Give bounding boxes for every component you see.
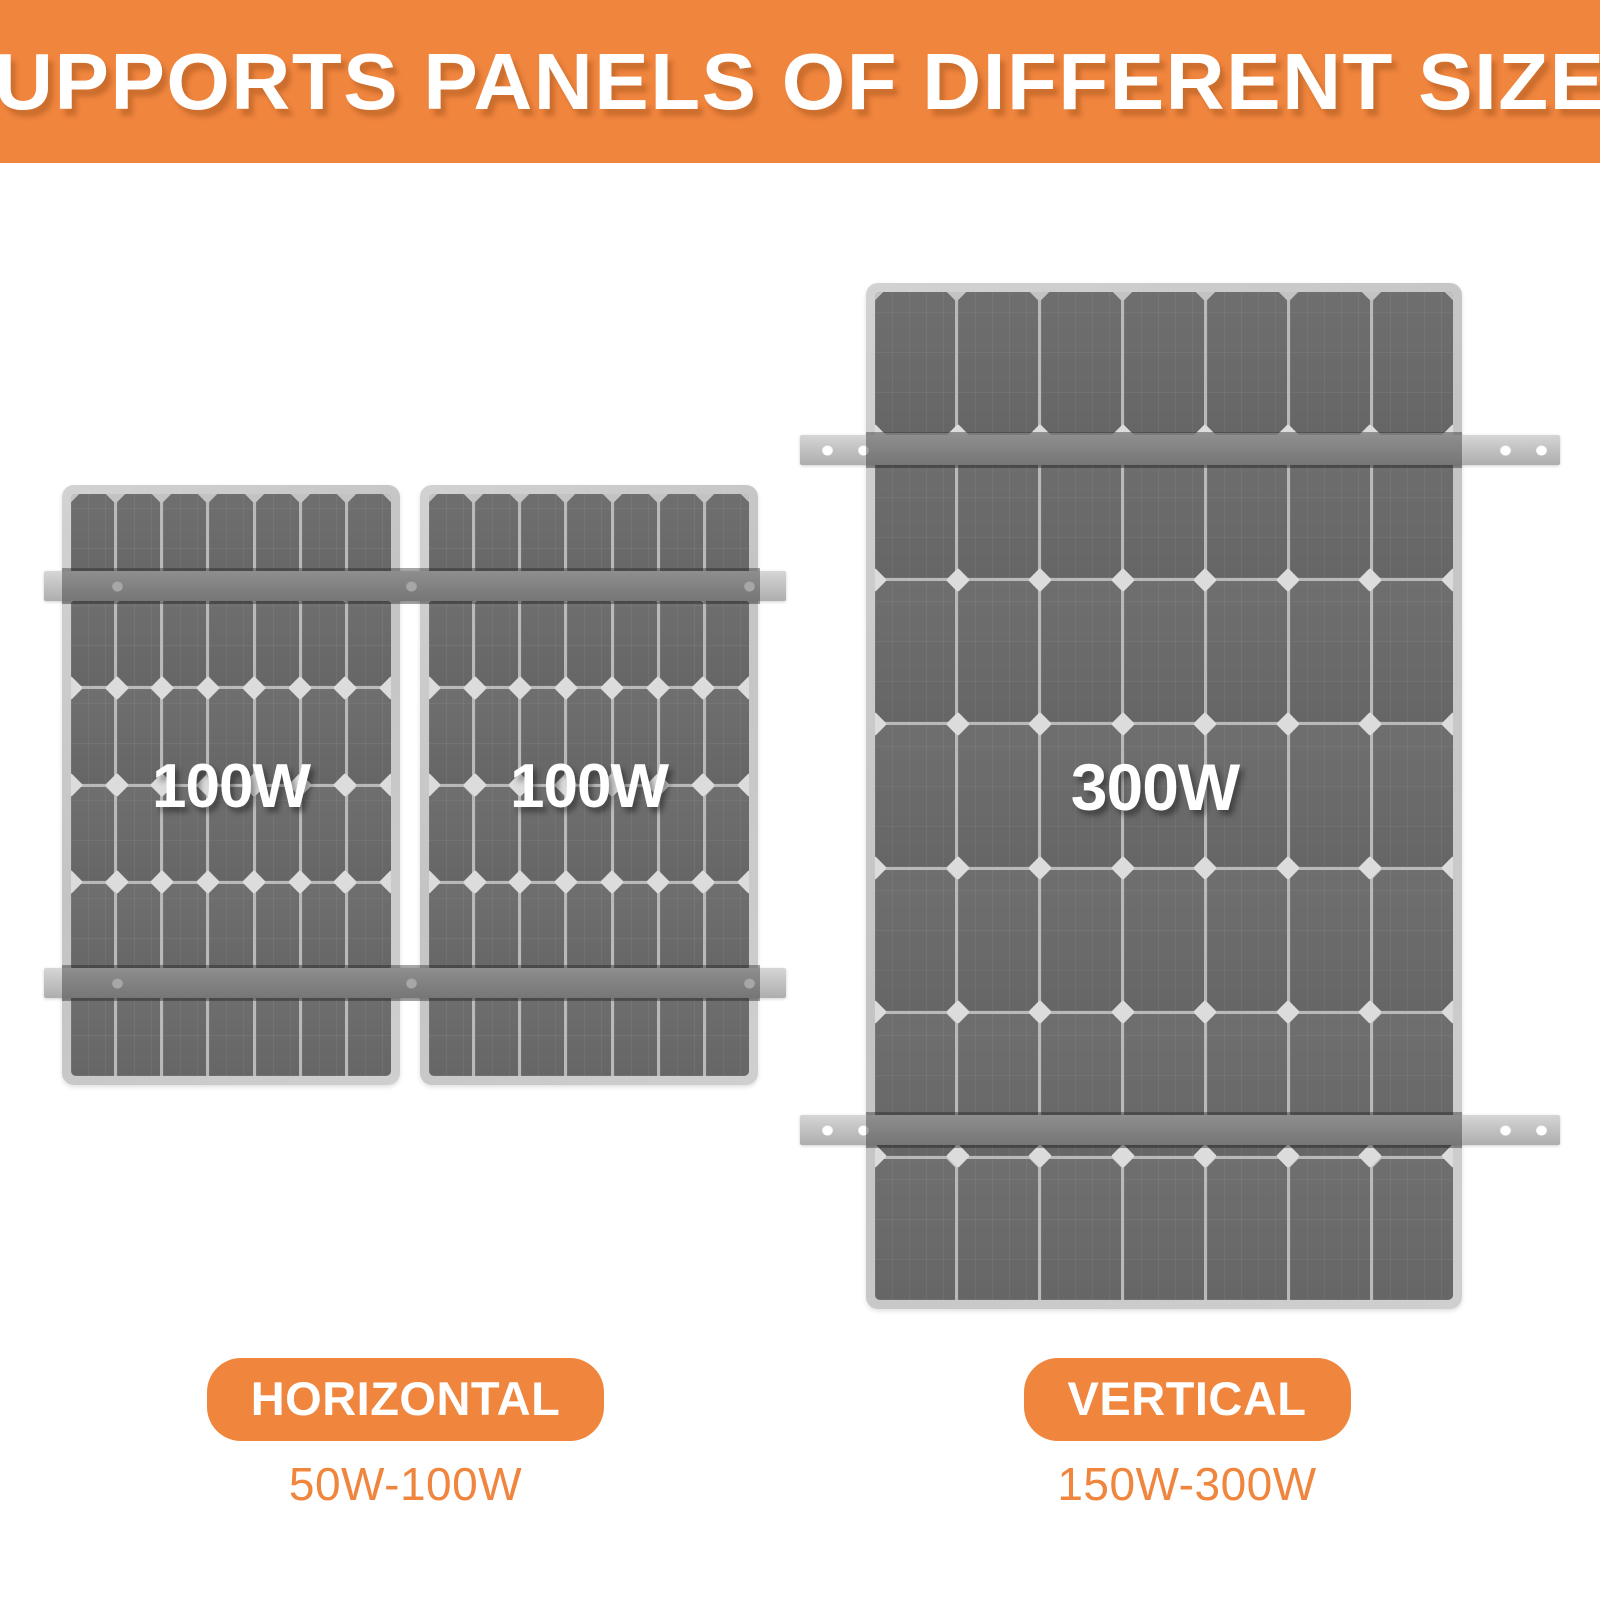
- wattage-label-300w: 300W: [1071, 754, 1239, 820]
- solar-cell: [429, 884, 472, 979]
- mounting-rail-vertical-bottom: [800, 1115, 1560, 1145]
- caption-pill-horizontal: HORIZONTAL: [207, 1358, 605, 1441]
- rail-screw-hole: [1500, 1125, 1511, 1136]
- solar-cell: [71, 787, 114, 882]
- solar-cell: [1290, 1159, 1370, 1300]
- solar-cell: [348, 787, 391, 882]
- solar-cell: [1207, 292, 1287, 433]
- solar-cell: [429, 689, 472, 784]
- rail-screw-hole: [1536, 1125, 1547, 1136]
- page-title: SUPPORTS PANELS OF DIFFERENT SIZES: [0, 42, 1600, 122]
- solar-cell: [614, 592, 657, 687]
- solar-cell: [521, 884, 564, 979]
- illustration-stage: 100W 100W 300W HORIZONTAL 50W-100W VERTI…: [0, 163, 1600, 1600]
- rail-screw-hole: [822, 1125, 833, 1136]
- solar-cell: [256, 592, 299, 687]
- solar-cell: [117, 592, 160, 687]
- solar-cell: [614, 884, 657, 979]
- rail-screw-hole: [744, 581, 755, 592]
- caption-range-horizontal: 50W-100W: [289, 1461, 522, 1507]
- solar-cell: [71, 592, 114, 687]
- solar-cell: [875, 292, 955, 433]
- solar-cell: [706, 689, 749, 784]
- mounting-rail-horizontal-bottom: [44, 968, 786, 998]
- solar-cell: [1373, 1159, 1453, 1300]
- solar-cell: [1290, 725, 1370, 866]
- solar-cell: [1290, 292, 1370, 433]
- solar-cell: [521, 592, 564, 687]
- rail-screw-hole: [1500, 445, 1511, 456]
- solar-cell: [706, 592, 749, 687]
- solar-cell: [475, 592, 518, 687]
- solar-cell: [475, 884, 518, 979]
- caption-horizontal: HORIZONTAL 50W-100W: [178, 1358, 633, 1507]
- solar-cell: [163, 884, 206, 979]
- caption-vertical: VERTICAL 150W-300W: [952, 1358, 1422, 1507]
- solar-cell: [875, 725, 955, 866]
- solar-cell: [875, 870, 955, 1011]
- solar-cell: [958, 725, 1038, 866]
- solar-cell: [1207, 1159, 1287, 1300]
- solar-cell: [958, 581, 1038, 722]
- solar-cell: [567, 592, 610, 687]
- rail-screw-hole: [406, 978, 417, 989]
- solar-cell: [1373, 292, 1453, 433]
- rail-screw-hole: [822, 445, 833, 456]
- solar-cell: [1124, 1159, 1204, 1300]
- solar-cell: [1124, 581, 1204, 722]
- solar-cell: [958, 1159, 1038, 1300]
- solar-cell: [302, 592, 345, 687]
- solar-cell: [429, 592, 472, 687]
- solar-cell: [875, 1159, 955, 1300]
- solar-cell: [1373, 725, 1453, 866]
- solar-cell: [1041, 292, 1121, 433]
- solar-cell: [348, 592, 391, 687]
- solar-cell: [117, 884, 160, 979]
- solar-cell: [958, 870, 1038, 1011]
- solar-cell: [163, 592, 206, 687]
- caption-range-vertical: 150W-300W: [1057, 1461, 1316, 1507]
- solar-cell: [348, 884, 391, 979]
- solar-cell: [660, 592, 703, 687]
- solar-cell: [1373, 870, 1453, 1011]
- solar-cell: [660, 884, 703, 979]
- solar-cell: [209, 592, 252, 687]
- solar-cell: [875, 581, 955, 722]
- rail-screw-hole: [112, 978, 123, 989]
- solar-cell: [1124, 870, 1204, 1011]
- rail-screw-hole: [858, 445, 869, 456]
- solar-cell: [71, 884, 114, 979]
- rail-screw-hole: [1536, 445, 1547, 456]
- solar-cell: [1041, 581, 1121, 722]
- rail-screw-hole: [406, 581, 417, 592]
- solar-cell: [1207, 870, 1287, 1011]
- solar-cell: [1290, 870, 1370, 1011]
- rail-screw-hole: [112, 581, 123, 592]
- solar-cell: [567, 884, 610, 979]
- wattage-label-100w-left: 100W: [152, 756, 310, 818]
- solar-cell: [958, 292, 1038, 433]
- solar-cell: [1124, 292, 1204, 433]
- rail-screw-hole: [744, 978, 755, 989]
- solar-cell: [1207, 581, 1287, 722]
- solar-cell: [302, 884, 345, 979]
- solar-cell: [429, 787, 472, 882]
- caption-pill-vertical: VERTICAL: [1024, 1358, 1351, 1441]
- mounting-rail-horizontal-top: [44, 571, 786, 601]
- solar-cell: [209, 884, 252, 979]
- rail-screw-hole: [858, 1125, 869, 1136]
- header-banner: SUPPORTS PANELS OF DIFFERENT SIZES: [0, 0, 1600, 163]
- solar-cell: [1373, 581, 1453, 722]
- solar-cell: [348, 689, 391, 784]
- solar-cell: [1041, 870, 1121, 1011]
- solar-cell: [706, 884, 749, 979]
- solar-cell: [1041, 1159, 1121, 1300]
- solar-cell: [256, 884, 299, 979]
- solar-cell: [1290, 581, 1370, 722]
- solar-cell: [71, 689, 114, 784]
- wattage-label-100w-right: 100W: [510, 756, 668, 818]
- solar-cell: [706, 787, 749, 882]
- mounting-rail-vertical-top: [800, 435, 1560, 465]
